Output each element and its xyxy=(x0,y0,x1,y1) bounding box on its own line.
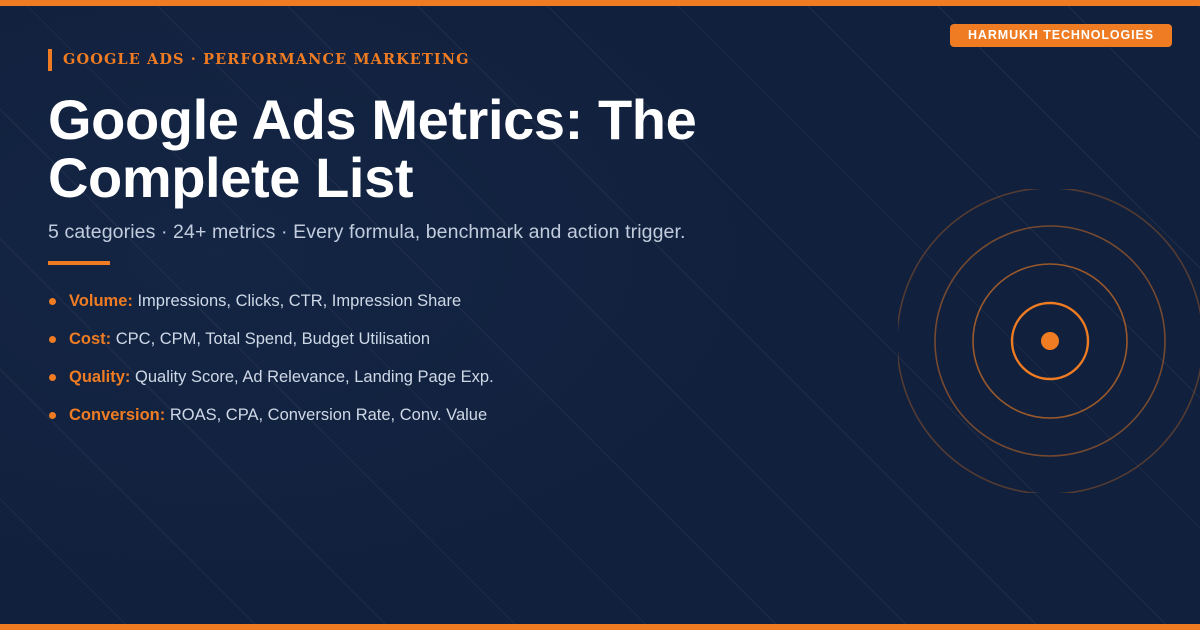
list-item: Cost: CPC, CPM, Total Spend, Budget Util… xyxy=(48,320,868,358)
list-item-text: Cost: CPC, CPM, Total Spend, Budget Util… xyxy=(69,329,430,349)
bullet-dot-icon xyxy=(49,374,56,381)
list-item: Conversion: ROAS, CPA, Conversion Rate, … xyxy=(48,396,868,434)
list-item-text: Quality: Quality Score, Ad Relevance, La… xyxy=(69,367,494,387)
page-subtitle: 5 categories · 24+ metrics · Every formu… xyxy=(48,219,868,245)
eyebrow: GOOGLE ADS · PERFORMANCE MARKETING xyxy=(48,48,470,72)
eyebrow-label: GOOGLE ADS · PERFORMANCE MARKETING xyxy=(63,53,470,68)
title-divider xyxy=(48,261,110,265)
list-item-label: Volume: xyxy=(69,292,137,310)
list-item: Quality: Quality Score, Ad Relevance, La… xyxy=(48,358,868,396)
ring-center-dot xyxy=(1041,332,1059,350)
bullet-dot-icon xyxy=(49,412,56,419)
list-item: Volume: Impressions, Clicks, CTR, Impres… xyxy=(48,282,868,320)
page-title: Google Ads Metrics: The Complete List xyxy=(48,91,848,207)
list-item-label: Quality: xyxy=(69,368,135,386)
list-item-values: CPC, CPM, Total Spend, Budget Utilisatio… xyxy=(116,330,430,348)
eyebrow-accent-bar xyxy=(48,49,52,71)
brand-badge-label: HARMUKH TECHNOLOGIES xyxy=(968,29,1154,42)
list-item-values: ROAS, CPA, Conversion Rate, Conv. Value xyxy=(170,406,487,424)
brand-badge[interactable]: HARMUKH TECHNOLOGIES xyxy=(950,24,1172,47)
metrics-category-list: Volume: Impressions, Clicks, CTR, Impres… xyxy=(48,282,868,434)
bullet-dot-icon xyxy=(49,336,56,343)
list-item-label: Cost: xyxy=(69,330,116,348)
list-item-label: Conversion: xyxy=(69,406,170,424)
content-column: GOOGLE ADS · PERFORMANCE MARKETING Googl… xyxy=(48,0,908,630)
list-item-values: Quality Score, Ad Relevance, Landing Pag… xyxy=(135,368,494,386)
list-item-text: Conversion: ROAS, CPA, Conversion Rate, … xyxy=(69,405,487,425)
list-item-values: Impressions, Clicks, CTR, Impression Sha… xyxy=(137,292,461,310)
bullet-dot-icon xyxy=(49,298,56,305)
list-item-text: Volume: Impressions, Clicks, CTR, Impres… xyxy=(69,291,461,311)
concentric-rings-icon xyxy=(898,189,1200,493)
